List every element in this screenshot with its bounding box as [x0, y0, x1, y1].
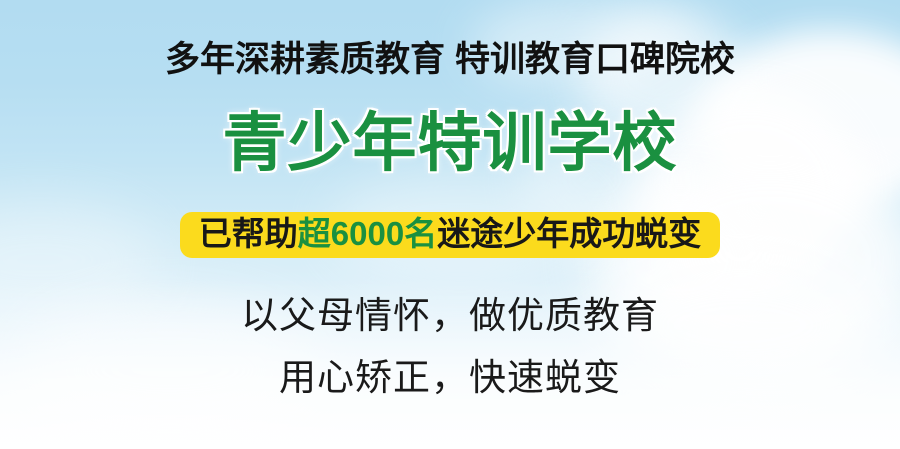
tagline-secondary: 用心矫正，快速蜕变 — [0, 356, 900, 400]
headline-part-right: 特训教育口碑院校 — [455, 40, 735, 79]
pill-prefix-text: 已帮助 — [199, 215, 298, 252]
status-badge: 已帮助超6000名迷途少年成功蜕变 — [180, 212, 720, 258]
pill-suffix-text: 迷途少年成功蜕变 — [437, 215, 701, 252]
page-title: 青少年特训学校 — [0, 106, 900, 180]
banner-content: 多年深耕素质教育特训教育口碑院校 青少年特训学校 已帮助超6000名迷途少年成功… — [0, 0, 900, 449]
highlight-pill-container: 已帮助超6000名迷途少年成功蜕变 — [0, 212, 900, 258]
headline-part-left: 多年深耕素质教育 — [165, 40, 445, 79]
pill-emphasis-count: 超6000名 — [298, 215, 437, 252]
tagline-primary: 以父母情怀，做优质教育 — [0, 294, 900, 338]
promo-banner: 多年深耕素质教育特训教育口碑院校 青少年特训学校 已帮助超6000名迷途少年成功… — [0, 0, 900, 449]
banner-headline: 多年深耕素质教育特训教育口碑院校 — [0, 38, 900, 82]
